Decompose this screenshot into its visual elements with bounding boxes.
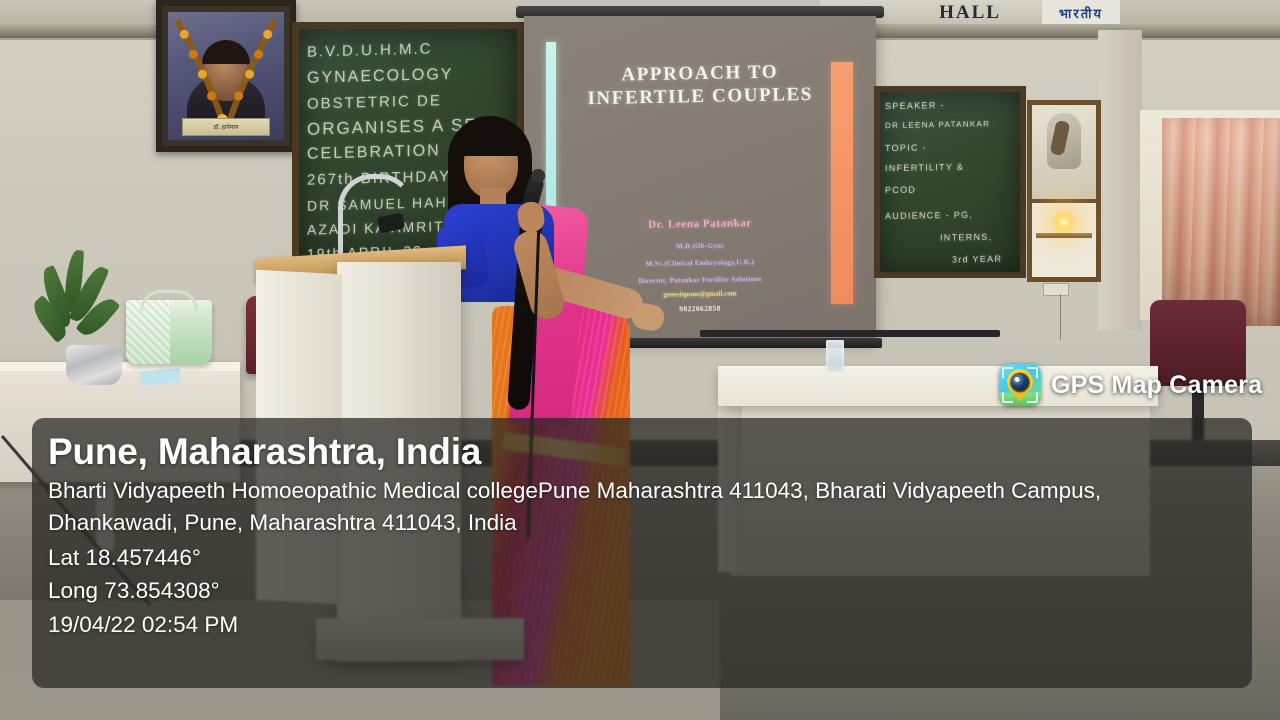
- portrait-image: डॉ. हानेमान: [168, 12, 284, 140]
- gps-map-camera-watermark: GPS Map Camera: [999, 364, 1262, 406]
- blackboard-right-line-8: 3rd YEAR: [952, 253, 1017, 264]
- hall-sign-secondary-text: भारतीय: [1042, 0, 1120, 26]
- wall-picture-figure: [1047, 113, 1081, 169]
- wall-switch-box: [1043, 283, 1069, 296]
- background-rail: [700, 330, 1000, 337]
- portrait-hair: [202, 40, 250, 64]
- latitude-value: Lat 18.457446°: [48, 541, 1252, 574]
- lamp-shelf: [1036, 233, 1092, 238]
- location-title: Pune, Maharashtra, India: [48, 432, 1252, 471]
- handbag: [126, 300, 212, 364]
- gps-bracket-bottom-right: [1027, 392, 1038, 403]
- screenshot-root: HALL भारतीय: [0, 0, 1280, 720]
- gps-map-camera-label: GPS Map Camera: [1051, 371, 1262, 400]
- blackboard-right-line-5: PCOD: [885, 183, 1017, 195]
- blackboard-right-line-3: TOPIC -: [885, 141, 1017, 153]
- portrait-nameplate: डॉ. हानेमान: [182, 118, 270, 136]
- hall-sign-text: HALL: [939, 2, 1001, 24]
- gps-bracket-bottom-left: [1002, 392, 1013, 403]
- location-info-panel: Pune, Maharashtra, India Bharti Vidyapee…: [32, 418, 1252, 688]
- blackboard-right-line-6: AUDIENCE - PG,: [885, 209, 1017, 221]
- location-address: Bharti Vidyapeeth Homoeopathic Medical c…: [48, 475, 1218, 539]
- plant-foil-wrap: [66, 345, 122, 385]
- gps-bracket-top-right: [1027, 367, 1038, 378]
- blackboard-right-line-2: DR LEENA PATANKAR: [885, 119, 1017, 130]
- potted-plant: [40, 250, 110, 362]
- blackboard-left-line-1: B.V.D.U.H.M.C: [307, 38, 513, 60]
- gps-bracket-top-left: [1002, 367, 1013, 378]
- window-curtain: [1162, 118, 1280, 326]
- oil-lamp-glow: [1051, 209, 1077, 235]
- capture-timestamp: 19/04/22 02:54 PM: [48, 608, 1252, 641]
- wall-picture-image: [1032, 105, 1096, 203]
- handbag-panel: [126, 300, 170, 364]
- blackboard-right: SPEAKER - DR LEENA PATANKAR TOPIC - INFE…: [874, 86, 1026, 278]
- blackboard-right-line-7: INTERNS,: [940, 231, 1017, 242]
- camera-lens-icon: [1012, 374, 1029, 391]
- gps-map-camera-icon: [999, 364, 1041, 406]
- person-hair-front: [456, 120, 526, 156]
- wall-pillar: [1098, 30, 1142, 330]
- hanging-wire: [1060, 294, 1061, 340]
- wall-framed-picture: [1027, 100, 1101, 282]
- blackboard-right-line-1: SPEAKER -: [885, 99, 1017, 111]
- water-glass: [826, 340, 844, 372]
- longitude-value: Long 73.854308°: [48, 574, 1252, 607]
- blackboard-right-line-4: INFERTILITY &: [885, 161, 1017, 173]
- blackboard-left-line-2: GYNAECOLOGY: [307, 64, 513, 87]
- framed-portrait: डॉ. हानेमान: [156, 0, 296, 152]
- slide-title: APPROACH TO INFERTILE COUPLES: [524, 59, 876, 112]
